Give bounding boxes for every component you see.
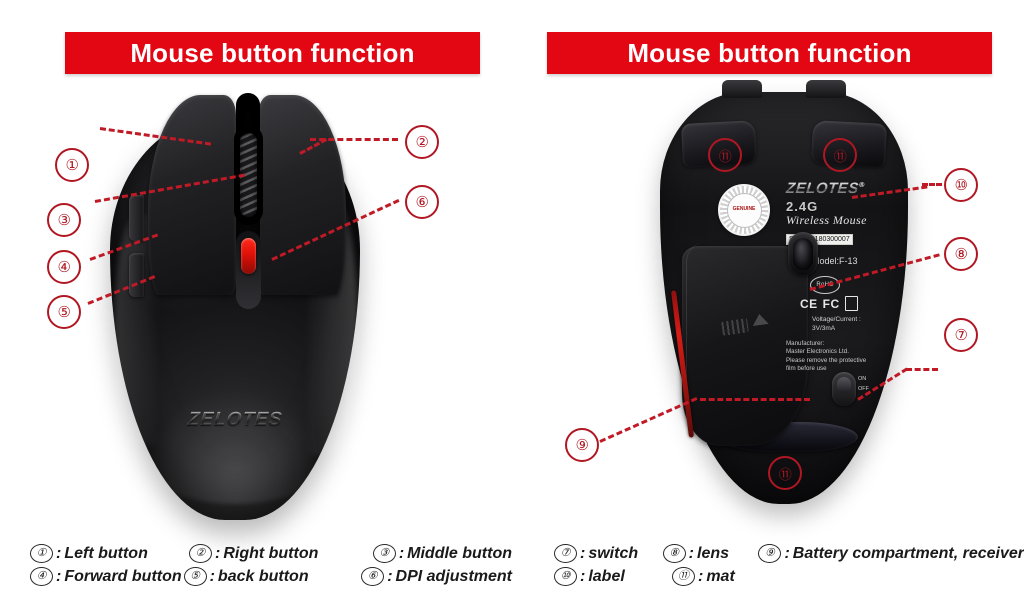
callout-11-top-left: ⑪ (708, 138, 742, 172)
leader-line-9b (700, 398, 810, 401)
trademark-symbol: ® (859, 182, 865, 189)
callout-6: ⑥ (405, 185, 439, 219)
warranty-seal-sticker: GENUINE (718, 184, 770, 236)
callout-5: ⑤ (47, 295, 81, 329)
legend-item-5: ⑤ : back button (184, 567, 362, 586)
legend-row: ⑦ : switch ⑧ : lens ⑨ : Battery compartm… (512, 544, 1024, 563)
legend-label-4: Forward button (64, 568, 181, 586)
top-tab-right (806, 80, 846, 98)
legend-item-10: ⑩ : label (554, 567, 672, 586)
left-banner-text: Mouse button function (130, 38, 414, 69)
legend-label-5: back button (218, 568, 309, 586)
label-voltage-value: 3V/3mA (812, 325, 861, 334)
mouse-bottom-view-illustration: GENUINE ZELOTES® 2.4G Wireless Mouse SN:… (660, 92, 908, 504)
manufacturer-name: Master Electronics Ltd. (786, 348, 898, 356)
manufacturer-heading: Manufacturer: (786, 340, 898, 348)
legend-num-2: ② (189, 544, 212, 563)
back-side-button (129, 253, 144, 297)
left-legend: ① : Left button ② : Right button ③ : Mid… (0, 544, 512, 590)
legend-row: ⑩ : label ⑪ : mat (512, 567, 1024, 586)
legend-label-2: Right button (223, 545, 318, 563)
callout-8: ⑧ (944, 237, 978, 271)
label-voltage-block: Voltage/Current : 3V/3mA (812, 316, 861, 334)
right-title-banner: Mouse button function (547, 32, 992, 74)
left-mouse-button (148, 95, 236, 295)
forward-side-button (129, 195, 144, 241)
legend-sep-2: : (215, 545, 220, 563)
legend-item-7: ⑦ : switch (554, 544, 663, 563)
legend-item-1: ① : Left button (30, 544, 189, 563)
legend-label-3: Middle button (407, 545, 512, 563)
callout-4: ④ (47, 250, 81, 284)
legend-num-1: ① (30, 544, 53, 563)
label-manufacturer-block: Manufacturer: Master Electronics Ltd. Pl… (786, 340, 898, 373)
callout-1: ① (55, 148, 89, 182)
right-mouse-button (258, 95, 346, 295)
legend-row: ① : Left button ② : Right button ③ : Mid… (0, 544, 512, 563)
legend-sep-7: : (580, 545, 585, 563)
legend-num-7: ⑦ (554, 544, 577, 563)
legend-sep-4: : (56, 568, 61, 586)
legend-label-11: mat (706, 568, 734, 586)
callout-3: ③ (47, 203, 81, 237)
callout-10: ⑩ (944, 168, 978, 202)
legend-num-4: ④ (30, 567, 53, 586)
label-voltage-caption: Voltage/Current : (812, 316, 861, 325)
shell-bottom-sheen (128, 384, 342, 504)
seal-text: GENUINE (727, 193, 762, 228)
dpi-adjustment-button (241, 238, 256, 274)
legend-sep-5: : (210, 568, 215, 586)
legend-sep-10: : (580, 568, 585, 586)
legend-row: ④ : Forward button ⑤ : back button ⑥ : D… (0, 567, 512, 586)
right-banner-text: Mouse button function (627, 38, 911, 69)
legend-sep-9: : (784, 545, 789, 563)
top-tab-left (722, 80, 762, 98)
legend-num-5: ⑤ (184, 567, 207, 586)
legend-sep-3: : (399, 545, 404, 563)
label-band: 2.4G (786, 199, 904, 214)
legend-item-11: ⑪ : mat (672, 567, 776, 586)
callout-11-bottom: ⑪ (768, 456, 802, 490)
legend-item-3: ③ : Middle button (373, 544, 512, 563)
legend-sep-11: : (698, 568, 703, 586)
ce-mark-icon: CE (800, 297, 818, 311)
legend-sep-8: : (689, 545, 694, 563)
legend-item-2: ② : Right button (189, 544, 373, 563)
label-model: Model:F-13 (812, 256, 904, 266)
legend-item-4: ④ : Forward button (30, 567, 184, 586)
legend-num-9: ⑨ (758, 544, 781, 563)
legend-num-8: ⑧ (663, 544, 686, 563)
legend-label-10: label (588, 568, 624, 586)
legend-label-1: Left button (64, 545, 148, 563)
callout-9: ⑨ (565, 428, 599, 462)
legend-item-8: ⑧ : lens (663, 544, 759, 563)
legend-num-6: ⑥ (361, 567, 384, 586)
legend-label-6: DPI adjustment (396, 568, 512, 586)
legend-item-9: ⑨ : Battery compartment, receiver (758, 544, 1024, 563)
callout-7: ⑦ (944, 318, 978, 352)
left-panel: Mouse button function ZELOTES ① ③ ④ ⑤ ② … (0, 0, 512, 604)
legend-num-3: ③ (373, 544, 396, 563)
fcc-mark-icon: FC (823, 297, 840, 311)
power-switch-knob (837, 377, 851, 393)
label-product-name: Wireless Mouse (786, 213, 904, 228)
notice-line-1: Please remove the protective (786, 357, 898, 365)
optical-lens (793, 238, 813, 270)
legend-label-9: Battery compartment, receiver (793, 545, 1024, 563)
legend-sep-6: : (387, 568, 392, 586)
callout-11-top-right: ⑪ (823, 138, 857, 172)
legend-label-8: lens (697, 545, 729, 563)
certification-marks: CE FC (800, 296, 858, 311)
label-brand-text: ZELOTES (785, 180, 859, 197)
legend-num-11: ⑪ (672, 567, 695, 586)
label-brand: ZELOTES® (785, 180, 865, 197)
right-legend: ⑦ : switch ⑧ : lens ⑨ : Battery compartm… (512, 544, 1024, 590)
legend-item-6: ⑥ : DPI adjustment (361, 567, 512, 586)
callout-2: ② (405, 125, 439, 159)
left-title-banner: Mouse button function (65, 32, 480, 74)
battery-door-arrow-icon (751, 313, 768, 326)
right-panel: Mouse button function GENUINE ZELOTES® 2… (512, 0, 1024, 604)
weee-bin-icon (845, 296, 858, 311)
mouse-top-view-illustration: ZELOTES (110, 95, 360, 520)
leader-line-10b (922, 183, 942, 186)
zelotes-logo: ZELOTES (170, 405, 299, 435)
leader-line-7b (906, 368, 938, 371)
switch-on-label: ON (858, 374, 869, 384)
legend-sep-1: : (56, 545, 61, 563)
legend-label-7: switch (588, 545, 638, 563)
legend-num-10: ⑩ (554, 567, 577, 586)
